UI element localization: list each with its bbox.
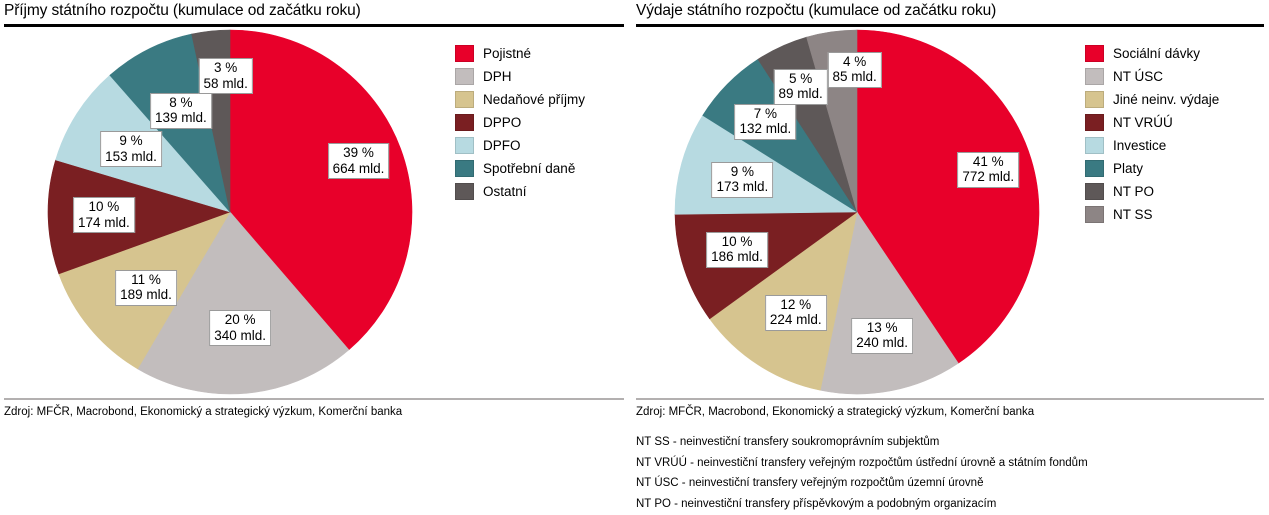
legend-item-label: Investice <box>1113 138 1166 153</box>
abbreviation-note: NT ÚSC - neinvestiční transfery veřejným… <box>636 473 1088 494</box>
pie-chart-expenditures: 41 %772 mld.13 %240 mld.12 %224 mld.10 %… <box>672 28 1042 396</box>
pie-slice-percent: 39 % <box>333 145 385 161</box>
pie-slice-percent: 12 % <box>770 297 822 313</box>
legend-swatch-icon <box>455 91 474 108</box>
abbreviation-note: NT SS - neinvestiční transfery soukromop… <box>636 432 1088 453</box>
pie-slice-value: 240 mld. <box>856 335 908 351</box>
pie-slice-percent: 5 % <box>778 71 822 87</box>
legend-item[interactable]: Investice <box>1085 134 1219 157</box>
legend-item-label: NT VRÚÚ <box>1113 115 1173 130</box>
footer-rule-left <box>4 398 624 400</box>
footer-rule-right <box>636 398 1264 400</box>
legend-item[interactable]: NT PO <box>1085 180 1219 203</box>
pie-slice-value: 186 mld. <box>711 249 763 265</box>
legend-revenues: PojistnéDPHNedaňové příjmyDPPODPFOSpotře… <box>455 42 585 203</box>
pie-slice-label: 13 %240 mld. <box>851 318 913 354</box>
pie-slice-label: 8 %139 mld. <box>150 93 212 129</box>
legend-item[interactable]: DPH <box>455 65 585 88</box>
legend-item-label: Nedaňové příjmy <box>483 92 585 107</box>
pie-slice-value: 89 mld. <box>778 86 822 102</box>
pie-slice-value: 340 mld. <box>214 328 266 344</box>
legend-item-label: NT PO <box>1113 184 1154 199</box>
page-title-right: Výdaje státního rozpočtu (kumulace od za… <box>636 2 996 20</box>
pie-slice-value: 153 mld. <box>105 149 157 165</box>
pie-slice-label: 4 %85 mld. <box>827 52 881 88</box>
legend-item[interactable]: NT SS <box>1085 203 1219 226</box>
legend-item-label: DPH <box>483 69 512 84</box>
legend-item[interactable]: Nedaňové příjmy <box>455 88 585 111</box>
pie-slice-percent: 20 % <box>214 312 266 328</box>
panel-revenues: Příjmy státního rozpočtu (kumulace od za… <box>0 0 632 515</box>
pie-chart-revenues: 39 %664 mld.20 %340 mld.11 %189 mld.10 %… <box>45 28 415 396</box>
title-rule-left <box>4 24 624 27</box>
pie-slice-label: 3 %58 mld. <box>199 58 253 94</box>
legend-item-label: NT SS <box>1113 207 1153 222</box>
pie-slice-value: 132 mld. <box>740 121 792 137</box>
pie-slice-percent: 8 % <box>155 95 207 111</box>
legend-item[interactable]: Ostatní <box>455 180 585 203</box>
pie-slice-value: 174 mld. <box>78 215 130 231</box>
pie-slice-label: 39 %664 mld. <box>328 143 390 179</box>
pie-slice-value: 139 mld. <box>155 110 207 126</box>
legend-item-label: Spotřební daně <box>483 161 575 176</box>
legend-swatch-icon <box>1085 91 1104 108</box>
legend-swatch-icon <box>1085 183 1104 200</box>
legend-swatch-icon <box>455 160 474 177</box>
legend-item-label: Pojistné <box>483 46 531 61</box>
chart-sheet: Příjmy státního rozpočtu (kumulace od za… <box>0 0 1269 515</box>
legend-swatch-icon <box>455 68 474 85</box>
source-note-left: Zdroj: MFČR, Macrobond, Ekonomický a str… <box>4 406 402 418</box>
pie-slice-label: 10 %174 mld. <box>73 197 135 233</box>
legend-item-label: Jiné neinv. výdaje <box>1113 92 1219 107</box>
legend-item-label: DPFO <box>483 138 521 153</box>
pie-slice-percent: 13 % <box>856 320 908 336</box>
legend-swatch-icon <box>1085 137 1104 154</box>
legend-swatch-icon <box>455 137 474 154</box>
pie-slice-value: 85 mld. <box>832 69 876 85</box>
source-note-right: Zdroj: MFČR, Macrobond, Ekonomický a str… <box>636 406 1034 418</box>
legend-item[interactable]: NT ÚSC <box>1085 65 1219 88</box>
legend-item[interactable]: Pojistné <box>455 42 585 65</box>
pie-slice-percent: 10 % <box>711 234 763 250</box>
legend-item[interactable]: DPFO <box>455 134 585 157</box>
pie-slice-percent: 3 % <box>204 60 248 76</box>
legend-item-label: Platy <box>1113 161 1143 176</box>
panel-expenditures: Výdaje státního rozpočtu (kumulace od za… <box>632 0 1269 515</box>
legend-item[interactable]: DPPO <box>455 111 585 134</box>
title-rule-right <box>636 24 1264 27</box>
pie-slice-value: 58 mld. <box>204 76 248 92</box>
legend-expenditures: Sociální dávkyNT ÚSCJiné neinv. výdajeNT… <box>1085 42 1219 226</box>
pie-slice-label: 9 %173 mld. <box>712 162 774 198</box>
legend-item[interactable]: Spotřební daně <box>455 157 585 180</box>
abbreviation-notes: NT SS - neinvestiční transfery soukromop… <box>636 432 1088 514</box>
pie-slice-percent: 9 % <box>717 164 769 180</box>
pie-slice-percent: 41 % <box>962 154 1014 170</box>
abbreviation-note: NT VRÚÚ - neinvestiční transfery veřejný… <box>636 453 1088 474</box>
pie-slice-value: 772 mld. <box>962 169 1014 185</box>
legend-swatch-icon <box>1085 206 1104 223</box>
legend-swatch-icon <box>455 183 474 200</box>
legend-item[interactable]: NT VRÚÚ <box>1085 111 1219 134</box>
pie-slice-label: 10 %186 mld. <box>706 232 768 268</box>
pie-slice-label: 5 %89 mld. <box>773 69 827 105</box>
legend-item-label: Sociální dávky <box>1113 46 1200 61</box>
pie-slice-percent: 4 % <box>832 54 876 70</box>
pie-slice-percent: 10 % <box>78 199 130 215</box>
pie-slice-value: 189 mld. <box>120 287 172 303</box>
pie-slice-value: 224 mld. <box>770 312 822 328</box>
legend-item-label: Ostatní <box>483 184 527 199</box>
legend-item[interactable]: Jiné neinv. výdaje <box>1085 88 1219 111</box>
legend-item-label: DPPO <box>483 115 521 130</box>
legend-swatch-icon <box>455 114 474 131</box>
legend-swatch-icon <box>1085 68 1104 85</box>
legend-item-label: NT ÚSC <box>1113 69 1163 84</box>
pie-slice-label: 11 %189 mld. <box>115 270 177 306</box>
pie-slice-label: 12 %224 mld. <box>765 295 827 331</box>
legend-swatch-icon <box>455 45 474 62</box>
abbreviation-note: NT PO - neinvestiční transfery příspěvko… <box>636 494 1088 515</box>
pie-slice-value: 664 mld. <box>333 161 385 177</box>
pie-slice-label: 7 %132 mld. <box>735 104 797 140</box>
legend-item[interactable]: Sociální dávky <box>1085 42 1219 65</box>
legend-item[interactable]: Platy <box>1085 157 1219 180</box>
pie-slice-percent: 7 % <box>740 106 792 122</box>
pie-slice-label: 20 %340 mld. <box>209 310 271 346</box>
pie-slice-label: 9 %153 mld. <box>100 131 162 167</box>
pie-slice-label: 41 %772 mld. <box>957 152 1019 188</box>
pie-slice-percent: 9 % <box>105 133 157 149</box>
pie-slice-value: 173 mld. <box>717 179 769 195</box>
page-title-left: Příjmy státního rozpočtu (kumulace od za… <box>4 2 361 20</box>
legend-swatch-icon <box>1085 160 1104 177</box>
pie-slice-percent: 11 % <box>120 272 172 288</box>
legend-swatch-icon <box>1085 114 1104 131</box>
legend-swatch-icon <box>1085 45 1104 62</box>
